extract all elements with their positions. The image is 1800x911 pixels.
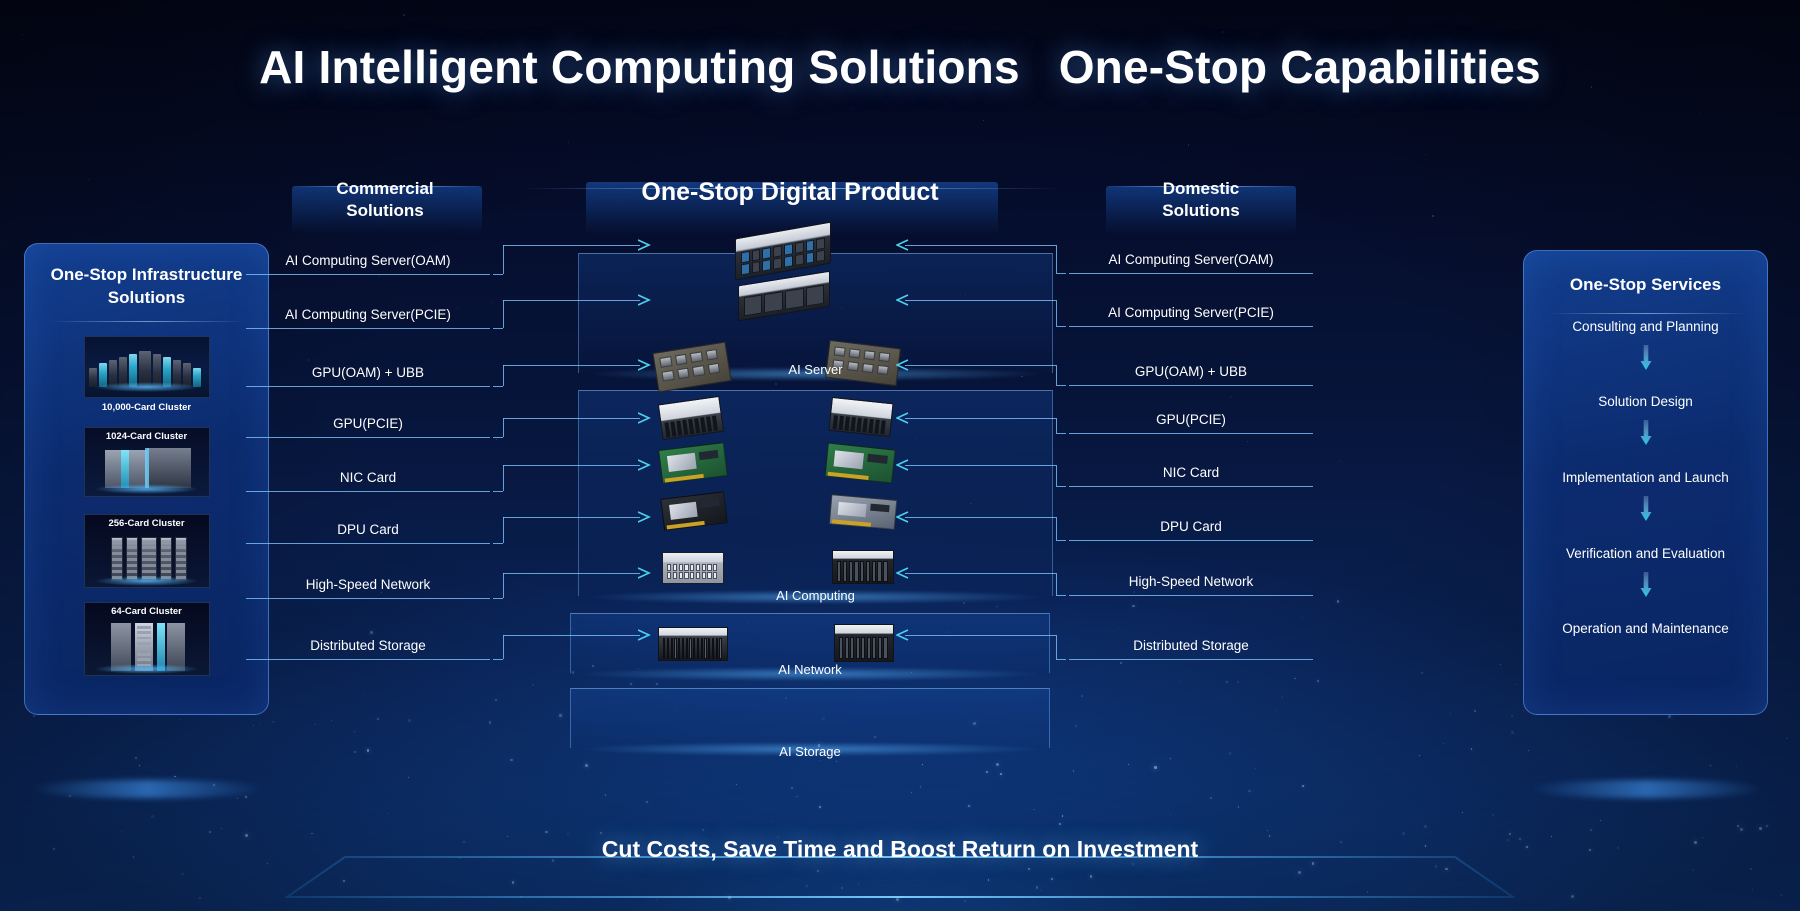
product-group-label: AI Server xyxy=(578,362,1053,377)
commercial-row-label[interactable]: Distributed Storage xyxy=(243,638,493,653)
domestic-row-label[interactable]: DPU Card xyxy=(1066,519,1316,534)
commercial-row-label[interactable]: AI Computing Server(PCIE) xyxy=(243,307,493,322)
center-header: One-Stop Digital Product xyxy=(560,178,1020,212)
connector-segment xyxy=(905,465,1056,466)
product-group-label: AI Computing xyxy=(578,588,1053,603)
domestic-row-label[interactable]: Distributed Storage xyxy=(1066,638,1316,653)
cluster-label: 64-Card Cluster xyxy=(85,606,209,617)
network-switch-render xyxy=(662,552,724,584)
connector-segment xyxy=(905,635,1056,636)
connector-segment xyxy=(905,300,1056,301)
commercial-row-label[interactable]: NIC Card xyxy=(243,470,493,485)
connector-segment xyxy=(493,274,503,275)
commercial-row-label[interactable]: GPU(PCIE) xyxy=(243,416,493,431)
row-underline xyxy=(246,659,490,660)
connector-segment xyxy=(503,517,504,543)
row-underline xyxy=(246,328,490,329)
connector-segment xyxy=(493,543,503,544)
arrow-left-icon xyxy=(896,294,910,306)
arrow-right-icon xyxy=(638,511,652,523)
storage-render xyxy=(834,624,894,662)
services-panel[interactable]: One-Stop Services Consulting and Plannin… xyxy=(1523,250,1768,715)
row-underline xyxy=(1069,486,1313,487)
domestic-row-label[interactable]: NIC Card xyxy=(1066,465,1316,480)
arrow-right-icon xyxy=(638,567,652,579)
card-render xyxy=(829,494,897,530)
product-group-frame xyxy=(570,688,1050,748)
panel-divider xyxy=(49,321,246,322)
arrow-down-icon xyxy=(1640,345,1651,371)
connector-segment xyxy=(493,491,503,492)
services-panel-title: One-Stop Services xyxy=(1524,273,1767,296)
connector-segment xyxy=(905,573,1056,574)
commercial-row-label[interactable]: DPU Card xyxy=(243,522,493,537)
arrow-right-icon xyxy=(638,294,652,306)
connector-segment xyxy=(1056,517,1057,540)
connector-segment xyxy=(905,517,1056,518)
connector-segment xyxy=(503,635,640,636)
arrow-down-icon xyxy=(1640,420,1651,446)
row-underline xyxy=(246,491,490,492)
commercial-row-label[interactable]: High-Speed Network xyxy=(243,577,493,592)
row-underline xyxy=(1069,595,1313,596)
storage-render xyxy=(658,627,728,661)
service-step[interactable]: Solution Design xyxy=(1524,394,1767,409)
row-underline xyxy=(246,543,490,544)
cluster-tile[interactable]: 10,000-Card Cluster xyxy=(84,336,210,413)
connector-segment xyxy=(1056,365,1057,385)
arrow-right-icon xyxy=(638,459,652,471)
commercial-header: Commercial Solutions xyxy=(292,178,478,224)
connector-segment xyxy=(1056,433,1066,434)
connector-segment xyxy=(503,418,504,437)
connector-segment xyxy=(503,245,640,246)
cluster-image: 1024-Card Cluster xyxy=(84,427,210,497)
arrow-left-icon xyxy=(896,239,910,251)
arrow-left-icon xyxy=(896,459,910,471)
connector-segment xyxy=(1056,595,1066,596)
cluster-label: 10,000-Card Cluster xyxy=(84,402,210,413)
connector-segment xyxy=(503,245,504,274)
arrow-left-icon xyxy=(896,511,910,523)
gpu-render xyxy=(828,397,893,437)
cluster-tile[interactable]: 256-Card Cluster xyxy=(84,514,210,588)
storage-render xyxy=(832,550,894,584)
cluster-tile[interactable]: 64-Card Cluster xyxy=(84,602,210,676)
connector-segment xyxy=(493,328,503,329)
connector-segment xyxy=(905,418,1056,419)
domestic-header: Domestic Solutions xyxy=(1108,178,1294,224)
connector-segment xyxy=(493,437,503,438)
service-step[interactable]: Consulting and Planning xyxy=(1524,319,1767,334)
arrow-right-icon xyxy=(638,629,652,641)
row-underline xyxy=(1069,540,1313,541)
row-underline xyxy=(1069,385,1313,386)
cluster-image: 64-Card Cluster xyxy=(84,602,210,676)
connector-segment xyxy=(503,573,504,598)
arrow-down-icon xyxy=(1640,572,1651,598)
commercial-row-label[interactable]: GPU(OAM) + UBB xyxy=(243,365,493,380)
connector-segment xyxy=(1056,300,1057,326)
connector-segment xyxy=(503,635,504,659)
page-title: AI Intelligent Computing Solutions One-S… xyxy=(0,40,1800,94)
domestic-row-label[interactable]: AI Computing Server(OAM) xyxy=(1066,252,1316,267)
bottom-banner-text: Cut Costs, Save Time and Boost Return on… xyxy=(0,836,1800,863)
infrastructure-panel-title: One-Stop Infrastructure Solutions xyxy=(25,263,268,309)
commercial-row-label[interactable]: AI Computing Server(OAM) xyxy=(243,253,493,268)
connector-segment xyxy=(503,365,504,386)
connector-segment xyxy=(503,300,504,328)
connector-segment xyxy=(493,598,503,599)
row-underline xyxy=(246,274,490,275)
arrow-left-icon xyxy=(896,567,910,579)
panel-left-glow xyxy=(30,780,265,798)
connector-segment xyxy=(1056,385,1066,386)
cluster-tile[interactable]: 1024-Card Cluster xyxy=(84,427,210,497)
connector-segment xyxy=(1056,659,1066,660)
connector-segment xyxy=(1056,635,1057,659)
product-group-label: AI Storage xyxy=(570,744,1050,759)
connector-segment xyxy=(503,300,640,301)
row-underline xyxy=(1069,433,1313,434)
product-group-label: AI Network xyxy=(570,662,1050,677)
service-step[interactable]: Verification and Evaluation xyxy=(1524,546,1767,561)
connector-segment xyxy=(503,465,640,466)
panel-right-glow xyxy=(1529,780,1764,798)
panel-divider xyxy=(1548,313,1745,314)
card-render xyxy=(824,443,895,484)
connector-segment xyxy=(493,386,503,387)
connector-segment xyxy=(1056,573,1057,595)
row-underline xyxy=(246,386,490,387)
row-underline xyxy=(246,598,490,599)
connector-segment xyxy=(1056,418,1057,433)
connector-segment xyxy=(503,573,640,574)
row-underline xyxy=(1069,273,1313,274)
connector-segment xyxy=(503,418,640,419)
connector-segment xyxy=(1056,540,1066,541)
domestic-row-label[interactable]: GPU(PCIE) xyxy=(1066,412,1316,427)
domestic-row-label[interactable]: High-Speed Network xyxy=(1066,574,1316,589)
connector-segment xyxy=(1056,273,1066,274)
domestic-row-label[interactable]: AI Computing Server(PCIE) xyxy=(1066,305,1316,320)
connector-segment xyxy=(503,465,504,491)
arrow-right-icon xyxy=(638,239,652,251)
connector-segment xyxy=(905,245,1056,246)
cluster-image xyxy=(84,336,210,398)
row-underline xyxy=(1069,326,1313,327)
infrastructure-panel[interactable]: One-Stop Infrastructure Solutions 10,000… xyxy=(24,243,269,715)
arrow-right-icon xyxy=(638,412,652,424)
cluster-image: 256-Card Cluster xyxy=(84,514,210,588)
service-step[interactable]: Implementation and Launch xyxy=(1524,470,1767,485)
cluster-label: 1024-Card Cluster xyxy=(85,431,209,442)
domestic-row-label[interactable]: GPU(OAM) + UBB xyxy=(1066,364,1316,379)
arrow-down-icon xyxy=(1640,496,1651,522)
arrow-left-icon xyxy=(896,412,910,424)
arrow-left-icon xyxy=(896,629,910,641)
cluster-label: 256-Card Cluster xyxy=(85,518,209,529)
connector-segment xyxy=(1056,245,1057,273)
row-underline xyxy=(246,437,490,438)
connector-segment xyxy=(1056,326,1066,327)
connector-segment xyxy=(1056,465,1057,486)
connector-segment xyxy=(493,659,503,660)
service-step[interactable]: Operation and Maintenance xyxy=(1524,621,1767,636)
product-group-frame xyxy=(578,253,1053,373)
connector-segment xyxy=(503,517,640,518)
connector-segment xyxy=(1056,486,1066,487)
row-underline xyxy=(1069,659,1313,660)
